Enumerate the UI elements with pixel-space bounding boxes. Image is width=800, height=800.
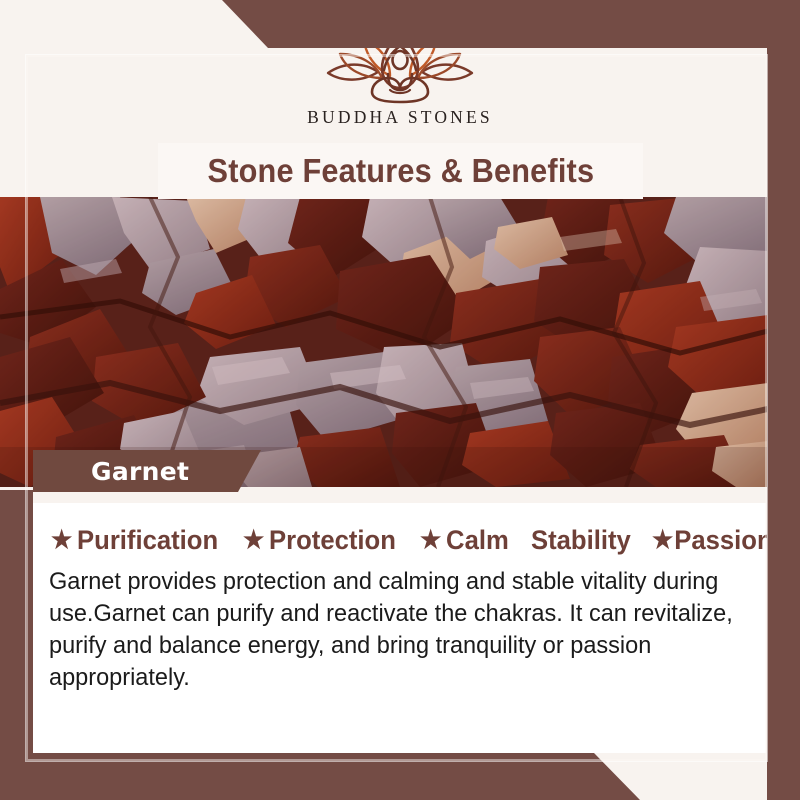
stone-name: Garnet xyxy=(33,457,189,486)
star-icon: ★ xyxy=(51,528,72,553)
stone-photo xyxy=(0,197,768,487)
benefit-label: Calm xyxy=(446,525,509,556)
frame-left-band xyxy=(0,490,33,800)
title-banner: Stone Features & Benefits xyxy=(158,143,643,199)
benefit-label: Purification xyxy=(77,525,218,556)
brand-name: BUDDHA STONES xyxy=(307,107,493,128)
benefit-item-stability: Stability xyxy=(531,525,631,556)
stone-name-tag: Garnet xyxy=(33,450,261,492)
benefit-item-passion: ★ Passion xyxy=(652,525,773,556)
benefit-item-protection: ★ Protection xyxy=(243,525,396,556)
poster-root: BUDDHA STONES Stone Features & Benefits … xyxy=(0,0,800,800)
star-icon: ★ xyxy=(420,528,441,553)
star-icon: ★ xyxy=(652,528,673,553)
page-title: Stone Features & Benefits xyxy=(207,152,594,190)
frame-right-band xyxy=(767,0,800,800)
frame-bottom-band xyxy=(0,753,800,800)
garnet-cluster-illustration xyxy=(0,197,768,487)
content-card: ★ Purification ★ Protection ★ Calm Stabi… xyxy=(33,503,766,753)
star-icon: ★ xyxy=(243,528,264,553)
benefit-label: Passion xyxy=(675,525,773,556)
benefits-list: ★ Purification ★ Protection ★ Calm Stabi… xyxy=(33,503,766,556)
benefit-label: Stability xyxy=(531,525,631,556)
benefit-label: Protection xyxy=(269,525,396,556)
benefit-item-calm: ★ Calm xyxy=(420,525,509,556)
stone-description: Garnet provides protection and calming a… xyxy=(49,566,774,693)
benefit-item-purification: ★ Purification xyxy=(51,525,218,556)
